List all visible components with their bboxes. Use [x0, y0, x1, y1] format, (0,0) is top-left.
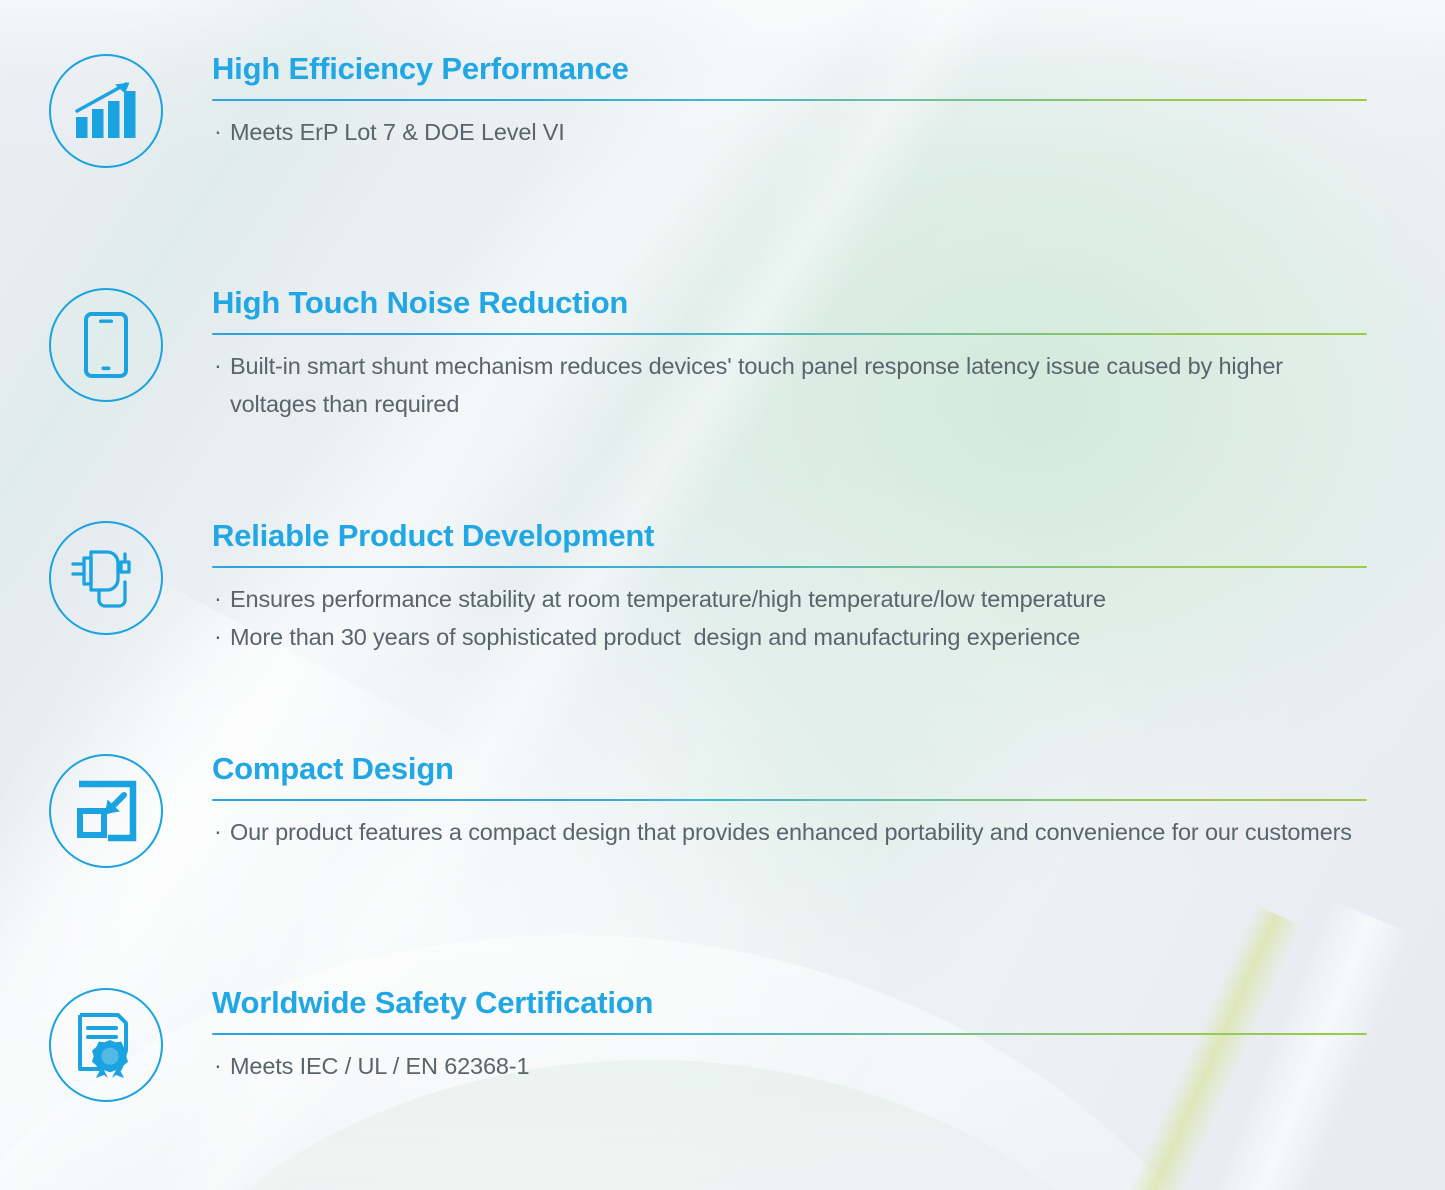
feature-divider: [212, 566, 1367, 568]
feature-bullet: Meets IEC / UL / EN 62368-1: [212, 1047, 1367, 1085]
feature-divider: [212, 1033, 1367, 1035]
power-adapter-icon: [49, 521, 163, 635]
feature-title: High Efficiency Performance: [212, 52, 1367, 87]
feature-highlights-page: High Efficiency Performance Meets ErP Lo…: [0, 0, 1445, 1190]
feature-row-compact-design: Compact Design Our product features a co…: [0, 752, 1445, 868]
feature-row-high-touch-noise-reduction: High Touch Noise Reduction Built-in smar…: [0, 286, 1445, 423]
feature-divider: [212, 799, 1367, 801]
smartphone-icon: [49, 288, 163, 402]
feature-divider: [212, 333, 1367, 335]
feature-bullet-list: Meets ErP Lot 7 & DOE Level VI: [212, 113, 1367, 151]
feature-title: Reliable Product Development: [212, 519, 1367, 554]
feature-icon-container: [0, 519, 212, 635]
feature-text-container: Compact Design Our product features a co…: [212, 752, 1445, 851]
feature-row-high-efficiency-performance: High Efficiency Performance Meets ErP Lo…: [0, 52, 1445, 168]
feature-bullet: Ensures performance stability at room te…: [212, 580, 1367, 618]
feature-bullet-list: Built-in smart shunt mechanism reduces d…: [212, 347, 1367, 423]
feature-text-container: High Touch Noise Reduction Built-in smar…: [212, 286, 1445, 423]
feature-row-reliable-product-development: Reliable Product Development Ensures per…: [0, 519, 1445, 656]
feature-icon-container: [0, 286, 212, 402]
feature-icon-container: [0, 986, 212, 1102]
feature-text-container: Worldwide Safety Certification Meets IEC…: [212, 986, 1445, 1085]
compress-shrink-icon: [49, 754, 163, 868]
feature-icon-container: [0, 52, 212, 168]
feature-bullet-list: Our product features a compact design th…: [212, 813, 1367, 851]
feature-bullet-list: Meets IEC / UL / EN 62368-1: [212, 1047, 1367, 1085]
feature-text-container: High Efficiency Performance Meets ErP Lo…: [212, 52, 1445, 151]
bar-chart-growth-icon: [49, 54, 163, 168]
feature-bullet: Our product features a compact design th…: [212, 813, 1367, 851]
feature-title: High Touch Noise Reduction: [212, 286, 1367, 321]
feature-text-container: Reliable Product Development Ensures per…: [212, 519, 1445, 656]
certificate-seal-icon: [49, 988, 163, 1102]
feature-bullet-list: Ensures performance stability at room te…: [212, 580, 1367, 656]
feature-bullet: Meets ErP Lot 7 & DOE Level VI: [212, 113, 1367, 151]
feature-title: Worldwide Safety Certification: [212, 986, 1367, 1021]
feature-icon-container: [0, 752, 212, 868]
feature-row-worldwide-safety-certification: Worldwide Safety Certification Meets IEC…: [0, 986, 1445, 1102]
feature-bullet: More than 30 years of sophisticated prod…: [212, 618, 1367, 656]
feature-divider: [212, 99, 1367, 101]
feature-bullet: Built-in smart shunt mechanism reduces d…: [212, 347, 1367, 423]
feature-title: Compact Design: [212, 752, 1367, 787]
